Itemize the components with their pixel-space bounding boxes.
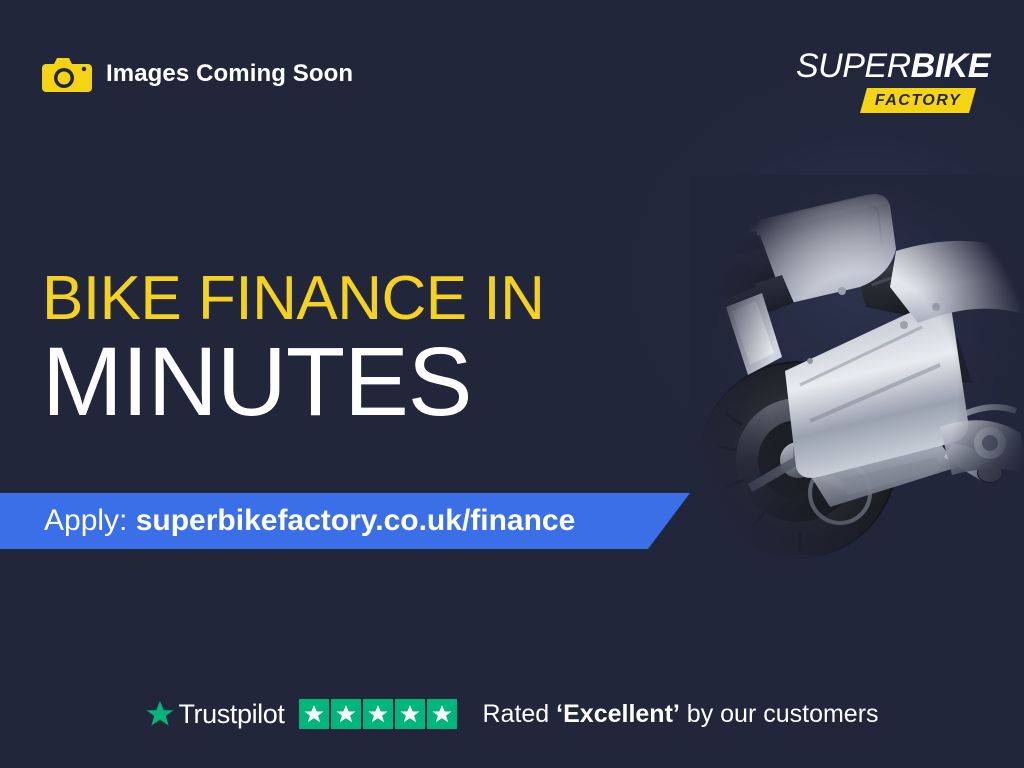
motorcycle-image (690, 175, 1024, 605)
apply-url[interactable]: superbikefactory.co.uk/finance (136, 504, 576, 537)
apply-cta-banner[interactable]: Apply: superbikefactory.co.uk/finance (0, 493, 690, 549)
brand-super: SUPER (796, 47, 911, 85)
rating-suffix: by our customers (680, 700, 879, 728)
engine-block (940, 407, 1024, 475)
star-icon (299, 699, 329, 729)
trustpilot-logo: Trustpilot (145, 699, 284, 729)
brand-wordmark: SUPERBIKE (796, 48, 976, 84)
side-fairing (890, 241, 1024, 323)
trustpilot-star-icon (145, 699, 175, 729)
exhaust (785, 303, 1003, 483)
headline-line-2: MINUTES (42, 332, 544, 432)
rear-wheel (700, 362, 896, 558)
rear-hugger (816, 380, 934, 437)
swingarm (810, 443, 958, 507)
brand-bike: BIKE (911, 47, 990, 85)
headline-line-1: BIKE FINANCE IN (42, 268, 544, 330)
star-icon (427, 699, 457, 729)
trustpilot-footer: Trustpilot Rated ‘Excellent’ by our cust… (0, 660, 1024, 768)
page-title: BIKE FINANCE IN MINUTES (42, 268, 544, 432)
brand-factory: FACTORY (875, 93, 961, 109)
tail-fairing (708, 196, 896, 305)
images-coming-soon-label: Images Coming Soon (106, 60, 353, 88)
star-icon (363, 699, 393, 729)
promo-banner: Images Coming Soon SUPERBIKE FACTORY BIK… (0, 0, 1024, 768)
trustpilot-star-rating (299, 699, 457, 729)
trustpilot-name: Trustpilot (178, 701, 284, 728)
camera-icon (40, 54, 92, 93)
brand-factory-banner: FACTORY (860, 88, 976, 113)
star-icon (395, 699, 425, 729)
apply-prefix: Apply: (44, 504, 136, 537)
brand-logo: SUPERBIKE FACTORY (796, 48, 976, 113)
subframe (700, 235, 794, 323)
trustpilot-rating-text: Rated ‘Excellent’ by our customers (483, 702, 879, 727)
plate-hanger (726, 293, 782, 375)
star-icon (331, 699, 361, 729)
rating-prefix: Rated (483, 700, 557, 728)
apply-cta-text: Apply: superbikefactory.co.uk/finance (44, 506, 575, 536)
rating-word: ‘Excellent’ (556, 700, 680, 728)
images-coming-soon: Images Coming Soon (40, 54, 353, 93)
seat (858, 253, 988, 315)
